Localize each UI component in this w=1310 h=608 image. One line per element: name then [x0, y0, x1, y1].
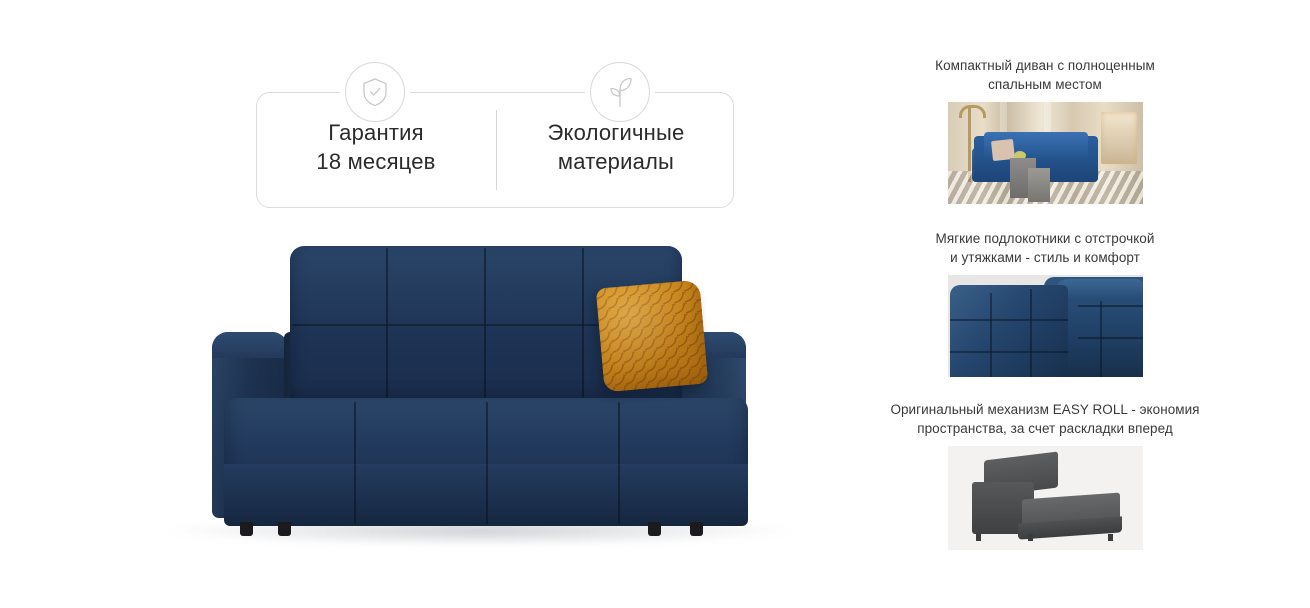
sofa-leg — [648, 522, 661, 536]
badge-label-warranty: Гарантия 18 месяцев — [258, 118, 494, 177]
badge-label-eco: Экологичные материалы — [500, 118, 732, 177]
sofa-leg — [278, 522, 291, 536]
product-infographic: Гарантия 18 месяцев Экологичные материал… — [0, 0, 1310, 608]
feature-block-1: Компактный диван с полноценным спальным … — [880, 56, 1210, 204]
thumb-easy-roll-mechanism — [948, 446, 1143, 550]
sofa-leg — [690, 522, 703, 536]
hero-product-image — [150, 228, 810, 568]
eco-leaf-icon — [590, 62, 650, 122]
badge-divider — [496, 110, 497, 190]
feature-caption-3: Оригинальный механизм EASY ROLL - эконом… — [880, 400, 1210, 438]
feature-block-3: Оригинальный механизм EASY ROLL - эконом… — [880, 400, 1210, 550]
feature-block-2: Мягкие подлокотники с отстрочкой и утяжк… — [880, 229, 1210, 377]
accent-pillow — [596, 280, 709, 393]
sofa-leg — [240, 522, 253, 536]
feature-caption-1: Компактный диван с полноценным спальным … — [880, 56, 1210, 94]
thumb-armrest-closeup — [948, 275, 1143, 377]
sofa-seat-front — [224, 464, 748, 526]
shield-check-icon — [345, 62, 405, 122]
thumb-interior-blue-sofa — [948, 102, 1143, 204]
feature-caption-2: Мягкие подлокотники с отстрочкой и утяжк… — [880, 229, 1210, 267]
